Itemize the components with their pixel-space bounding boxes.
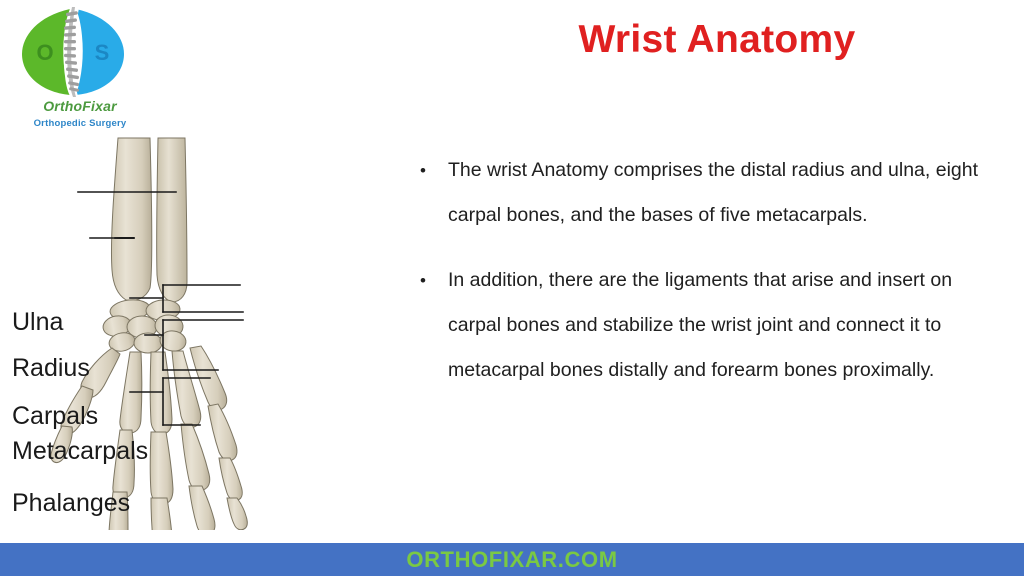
orthofixar-logo-icon: O S (18, 6, 128, 98)
bullet-point-icon: • (420, 148, 448, 238)
radius-bone (111, 138, 151, 301)
footer-website-text: ORTHOFIXAR.COM (406, 547, 617, 573)
bullet-text: The wrist Anatomy comprises the distal r… (448, 148, 1000, 238)
label-carpals: Carpals (12, 404, 98, 429)
bone-group (51, 138, 247, 530)
logo-wordmark: OrthoFixar (10, 98, 150, 114)
carpal-bones (101, 298, 187, 354)
bullet-text: In addition, there are the ligaments tha… (448, 258, 1000, 393)
list-item: • In addition, there are the ligaments t… (420, 258, 1000, 393)
logo-letter-s: S (95, 40, 110, 65)
wrist-anatomy-figure: Ulna Radius Carpals Metacarpals Phalange… (0, 130, 410, 530)
metacarpal-bones (81, 346, 227, 434)
logo-letter-o: O (36, 40, 53, 65)
brand-logo: O S OrthoFixar Orthopedic Surgery (10, 6, 150, 136)
ulna-bone (157, 138, 187, 302)
logo-tagline: Orthopedic Surgery (10, 118, 150, 129)
label-metacarpals: Metacarpals (12, 439, 148, 464)
label-ulna: Ulna (12, 310, 63, 335)
content-bullet-list: • The wrist Anatomy comprises the distal… (420, 148, 1000, 413)
label-phalanges: Phalanges (12, 491, 130, 516)
label-radius: Radius (12, 356, 90, 381)
list-item: • The wrist Anatomy comprises the distal… (420, 148, 1000, 238)
page-title: Wrist Anatomy (420, 18, 1014, 62)
footer-banner: ORTHOFIXAR.COM (0, 543, 1024, 576)
metacarpal-3 (150, 352, 172, 434)
bullet-point-icon: • (420, 258, 448, 393)
